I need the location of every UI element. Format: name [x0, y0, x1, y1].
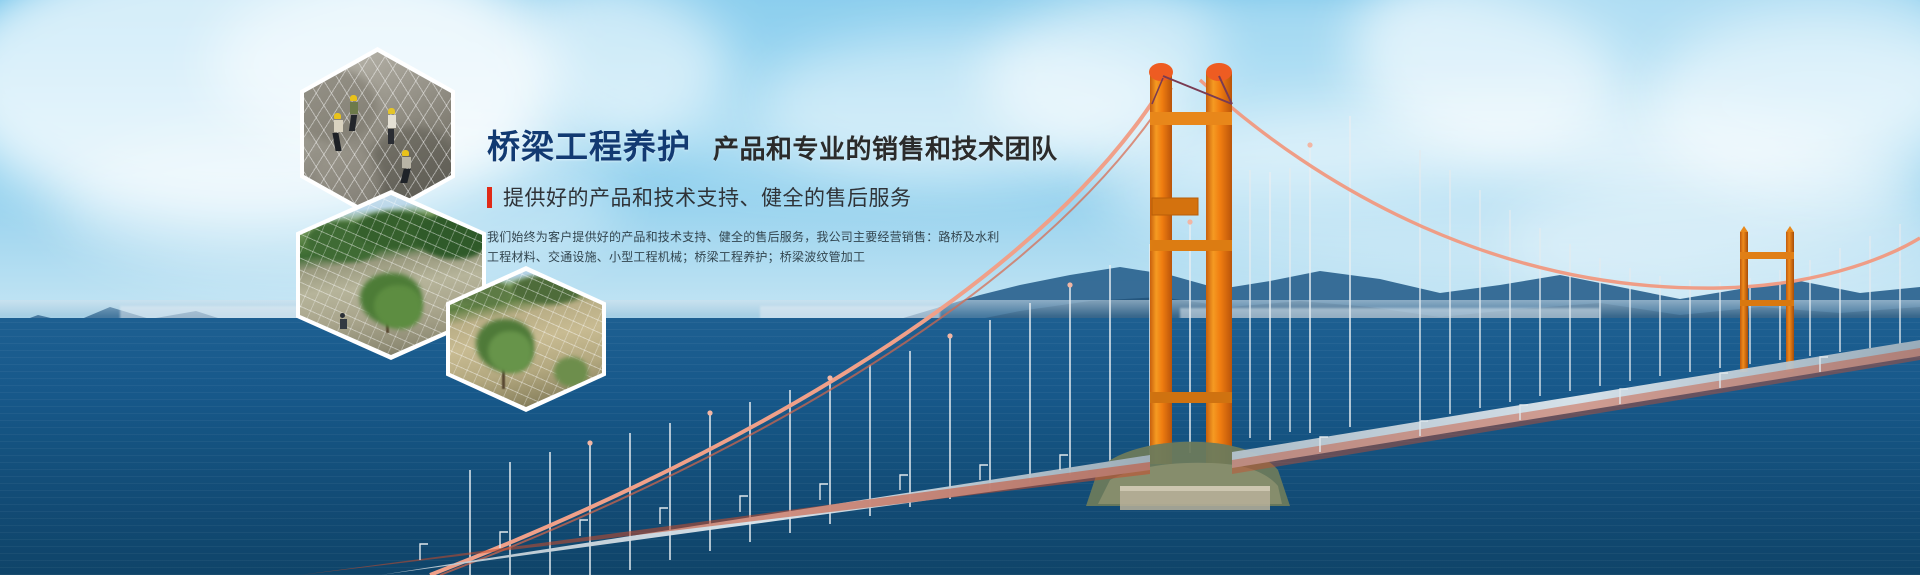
page-title: 桥梁工程养护	[487, 120, 691, 168]
description-paragraph: 我们始终为客户提供好的产品和技术支持、健全的售后服务，我公司主要经营销售：路桥及…	[487, 227, 917, 267]
hero-banner: 桥梁工程养护 产品和专业的销售和技术团队 提供好的产品和技术支持、健全的售后服务…	[0, 0, 1920, 575]
accent-bar	[487, 187, 492, 208]
worker	[334, 113, 343, 151]
worker	[350, 95, 358, 131]
worker	[388, 108, 396, 144]
sea-water	[0, 318, 1920, 575]
title-row: 桥梁工程养护 产品和专业的销售和技术团队	[487, 120, 1007, 168]
description-line-2: 工程材料、交通设施、小型工程机械；桥梁工程养护；桥梁波纹管加工	[487, 247, 917, 267]
page-subtitle-headline: 产品和专业的销售和技术团队	[713, 129, 1058, 166]
worker	[402, 150, 411, 183]
banner-text-block: 桥梁工程养护 产品和专业的销售和技术团队 提供好的产品和技术支持、健全的售后服务…	[487, 120, 1007, 267]
description-line-1: 我们始终为客户提供好的产品和技术支持、健全的售后服务，我公司主要经营销售：路桥及…	[487, 227, 917, 247]
subtitle-text: 提供好的产品和技术支持、健全的售后服务	[503, 182, 912, 212]
subtitle-row: 提供好的产品和技术支持、健全的售后服务	[487, 182, 1007, 212]
hex-photo-vegetated-slope[interactable]	[446, 266, 606, 412]
worker	[340, 313, 347, 329]
